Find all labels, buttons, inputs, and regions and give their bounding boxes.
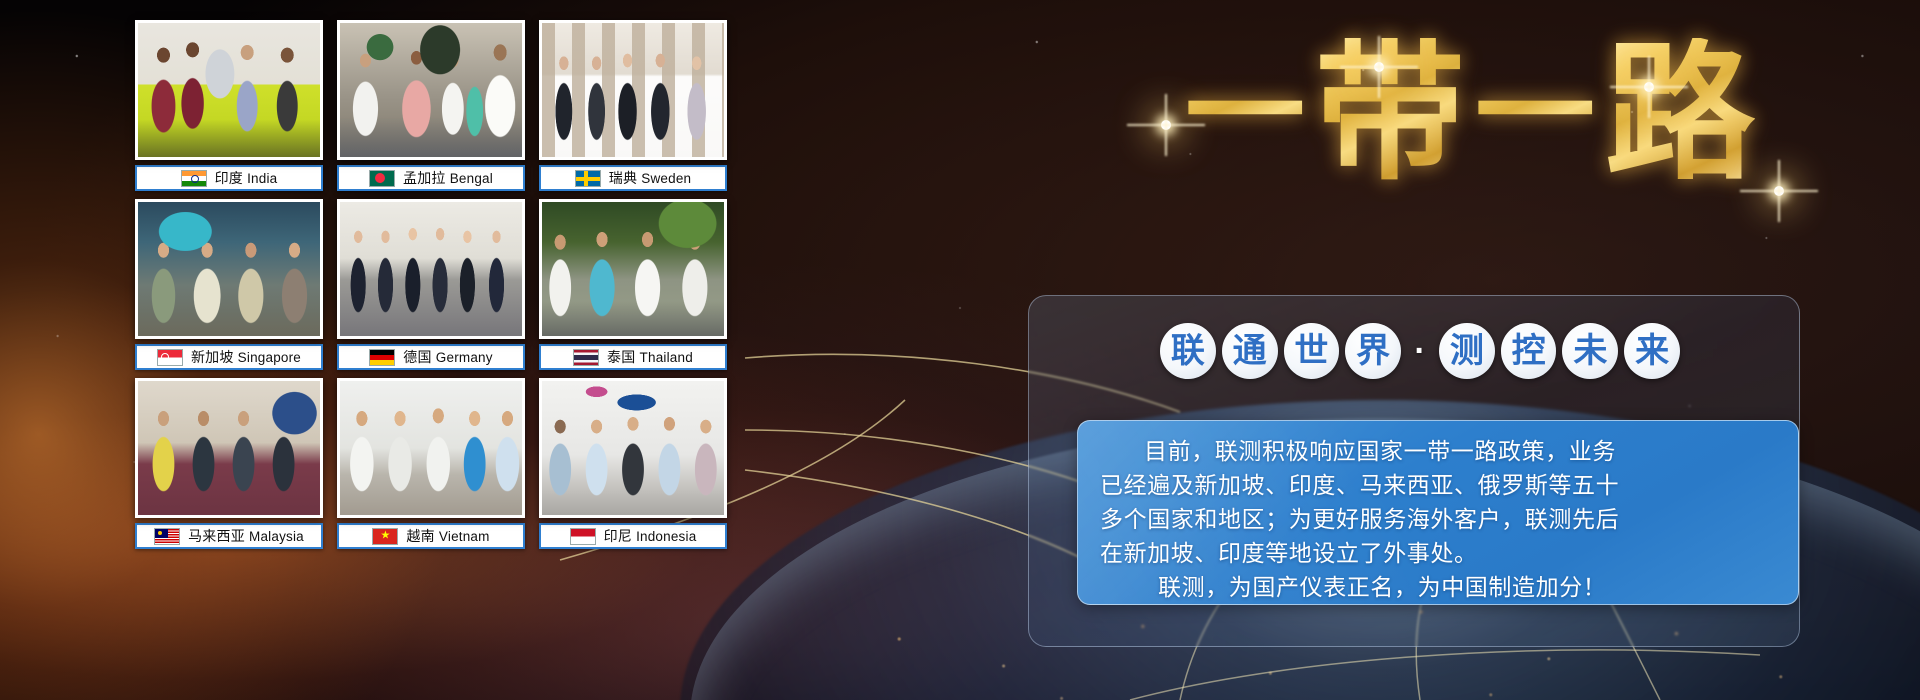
gallery-item-bengal[interactable]: 孟加拉 Bengal	[337, 20, 525, 191]
calligraphy-char-1: 一	[1185, 53, 1305, 173]
slogan-separator-dot: ·	[1407, 332, 1433, 371]
photo-singapore	[135, 199, 323, 339]
caption-text: 马来西亚 Malaysia	[188, 526, 304, 546]
gallery-item-indonesia[interactable]: 印尼 Indonesia	[539, 378, 727, 549]
caption-text: 印度 India	[215, 168, 278, 188]
caption-text: 瑞典 Sweden	[609, 168, 692, 188]
caption-text: 印尼 Indonesia	[604, 526, 697, 546]
vn-flag-icon	[372, 528, 398, 545]
slogan-badge: 控	[1501, 323, 1557, 379]
caption-sweden: 瑞典 Sweden	[539, 165, 727, 191]
gallery-row: 新加坡 Singapore 德国 Germany	[135, 199, 755, 370]
description-line: 联测，为国产仪表正名，为中国制造加分！	[1100, 570, 1776, 604]
slogan-badge: 来	[1624, 323, 1680, 379]
country-photo-gallery: 印度 India 孟加拉 Bengal	[135, 20, 755, 557]
gallery-row: 马来西亚 Malaysia 越南 Vietnam	[135, 378, 755, 549]
slogan-badge: 测	[1439, 323, 1495, 379]
in-flag-icon	[181, 170, 207, 187]
caption-india: 印度 India	[135, 165, 323, 191]
caption-indonesia: 印尼 Indonesia	[539, 523, 727, 549]
caption-singapore: 新加坡 Singapore	[135, 344, 323, 370]
photo-sweden	[539, 20, 727, 160]
calligraphy-title: 一 带 一 路	[1020, 8, 1920, 218]
lens-flare-icon	[1374, 62, 1384, 72]
caption-text: 新加坡 Singapore	[191, 347, 301, 367]
bd-flag-icon	[369, 170, 395, 187]
slogan-badge: 联	[1160, 323, 1216, 379]
description-line: 多个国家和地区；为更好服务海外客户，联测先后	[1100, 502, 1776, 536]
caption-text: 孟加拉 Bengal	[403, 168, 493, 188]
sg-flag-icon	[157, 349, 183, 366]
caption-vietnam: 越南 Vietnam	[337, 523, 525, 549]
caption-text: 德国 Germany	[403, 347, 492, 367]
th-flag-icon	[573, 349, 599, 366]
gallery-item-malaysia[interactable]: 马来西亚 Malaysia	[135, 378, 323, 549]
photo-india	[135, 20, 323, 160]
de-flag-icon	[369, 349, 395, 366]
caption-text: 越南 Vietnam	[406, 526, 489, 546]
lens-flare-icon	[1774, 186, 1784, 196]
description-line: 目前，联测积极响应国家一带一路政策，业务	[1100, 434, 1776, 468]
photo-indonesia	[539, 378, 727, 518]
photo-vietnam	[337, 378, 525, 518]
caption-germany: 德国 Germany	[337, 344, 525, 370]
calligraphy-char-2: 带	[1315, 38, 1465, 188]
photo-thailand	[539, 199, 727, 339]
slogan-badge: 界	[1345, 323, 1401, 379]
photo-germany	[337, 199, 525, 339]
caption-bengal: 孟加拉 Bengal	[337, 165, 525, 191]
my-flag-icon	[154, 528, 180, 545]
photo-malaysia	[135, 378, 323, 518]
id-flag-icon	[570, 528, 596, 545]
lens-flare-icon	[1644, 82, 1654, 92]
slogan-badges: 联 通 世 界 · 测 控 未 来	[1160, 314, 1680, 388]
caption-text: 泰国 Thailand	[607, 347, 693, 367]
gallery-row: 印度 India 孟加拉 Bengal	[135, 20, 755, 191]
gallery-item-india[interactable]: 印度 India	[135, 20, 323, 191]
description-line: 在新加坡、印度等地设立了外事处。	[1100, 536, 1776, 570]
photo-bengal	[337, 20, 525, 160]
caption-thailand: 泰国 Thailand	[539, 344, 727, 370]
description-panel: 目前，联测积极响应国家一带一路政策，业务 已经遍及新加坡、印度、马来西亚、俄罗斯…	[1077, 420, 1799, 605]
calligraphy-char-3: 一	[1475, 53, 1595, 173]
caption-malaysia: 马来西亚 Malaysia	[135, 523, 323, 549]
gallery-item-germany[interactable]: 德国 Germany	[337, 199, 525, 370]
slogan-badge: 通	[1222, 323, 1278, 379]
lens-flare-icon	[1161, 120, 1171, 130]
gallery-item-sweden[interactable]: 瑞典 Sweden	[539, 20, 727, 191]
gallery-item-singapore[interactable]: 新加坡 Singapore	[135, 199, 323, 370]
slogan-badge: 世	[1284, 323, 1340, 379]
slogan-badge: 未	[1562, 323, 1618, 379]
banner-stage: 印度 India 孟加拉 Bengal	[0, 0, 1920, 700]
calligraphy-char-4: 路	[1605, 38, 1755, 188]
gallery-item-thailand[interactable]: 泰国 Thailand	[539, 199, 727, 370]
se-flag-icon	[575, 170, 601, 187]
description-line: 已经遍及新加坡、印度、马来西亚、俄罗斯等五十	[1100, 468, 1776, 502]
gallery-item-vietnam[interactable]: 越南 Vietnam	[337, 378, 525, 549]
